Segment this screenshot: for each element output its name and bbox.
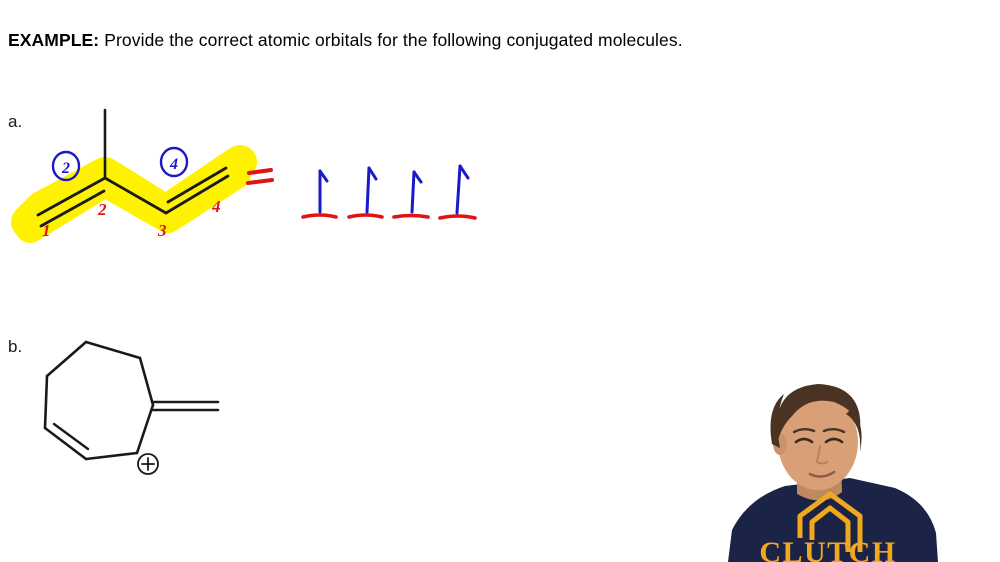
carbon-number-2: 2 [97, 200, 107, 219]
pi-count-label-right: 4 [169, 156, 178, 173]
page-title: EXAMPLE: Provide the correct atomic orbi… [8, 30, 683, 51]
carbon-number-3: 3 [157, 221, 167, 240]
orbital-diagram [303, 166, 475, 218]
cycloheptene-ring [45, 342, 153, 459]
lesson-slide: EXAMPLE: Provide the correct atomic orbi… [0, 0, 1000, 562]
clutch-logo-text: CLUTCH [759, 536, 896, 562]
orbital-3 [394, 172, 428, 217]
carbon-number-4: 4 [211, 197, 221, 216]
part-a-diagram: 1 2 3 4 2 4 [0, 90, 520, 250]
part-b-diagram [0, 320, 300, 500]
equals-sign [248, 170, 272, 183]
example-question-text: Provide the correct atomic orbitals for … [99, 30, 682, 50]
instructor-video-overlay[interactable]: CLUTCH [700, 370, 1000, 562]
carbon-number-1: 1 [42, 221, 51, 240]
orbital-4 [440, 166, 475, 218]
example-label: EXAMPLE: [8, 30, 99, 50]
orbital-1 [303, 171, 336, 217]
positive-charge-badge [138, 454, 158, 474]
ring-double-bond-inner-line [54, 424, 88, 449]
exocyclic-double-bond [153, 402, 218, 410]
orbital-2 [349, 168, 382, 217]
pi-count-label-left: 2 [61, 160, 70, 177]
